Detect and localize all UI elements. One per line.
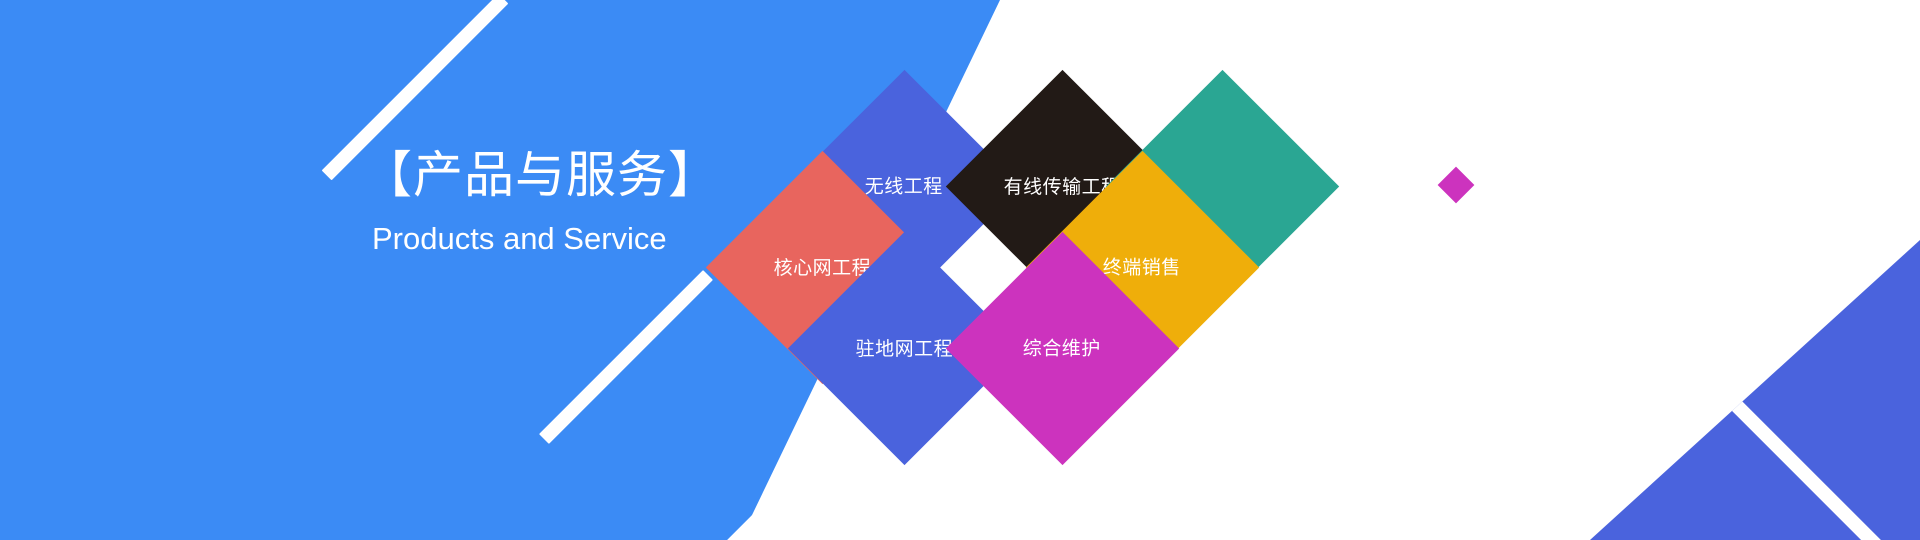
service-tile-label: 终端销售: [1103, 255, 1181, 279]
products-and-service-banner: 【产品与服务】 Products and Service 无线工程有线传输工程核…: [0, 0, 1920, 540]
service-tile-grid: 无线工程有线传输工程核心网工程终端销售驻地网工程综合维护: [0, 0, 1920, 540]
service-tile-label: 综合维护: [1023, 336, 1101, 360]
service-tile-label: 核心网工程: [774, 255, 872, 279]
service-tile-label: 无线工程: [865, 174, 943, 198]
service-tile-label: 驻地网工程: [856, 336, 954, 360]
